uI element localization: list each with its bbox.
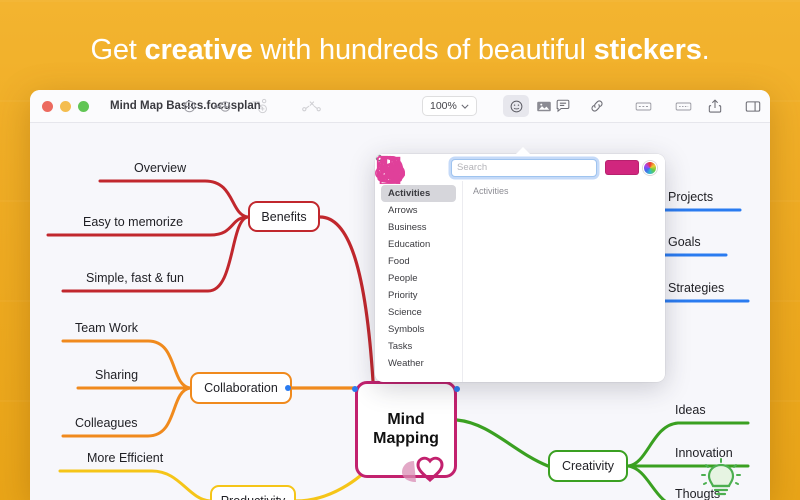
toolbar-node-tools — [176, 95, 324, 117]
share-icon[interactable] — [702, 95, 728, 117]
leaf-more-efficient[interactable]: More Efficient — [87, 451, 163, 465]
attachment-icon[interactable] — [670, 95, 696, 117]
connection-dot-left[interactable] — [352, 386, 358, 392]
disconnect-node-icon[interactable] — [298, 95, 324, 117]
sticker-bowling[interactable] — [596, 201, 657, 244]
category-business[interactable]: Business — [381, 219, 456, 236]
sticker-dice[interactable] — [596, 246, 657, 289]
window-controls[interactable] — [42, 101, 89, 112]
color-wheel-icon[interactable] — [643, 161, 657, 175]
link-icon[interactable] — [584, 95, 610, 117]
headline-part-3: . — [702, 34, 710, 66]
sticker-runner[interactable] — [534, 336, 595, 379]
sticker-checkered-flag[interactable] — [471, 246, 532, 289]
category-arrows[interactable]: Arrows — [381, 202, 456, 219]
sticker-grid[interactable] — [463, 201, 665, 379]
sticker-icon[interactable] — [503, 95, 529, 117]
toolbar-zoom[interactable]: 100% — [422, 96, 477, 116]
maximize-button[interactable] — [78, 101, 89, 112]
zoom-value: 100% — [430, 100, 457, 112]
sticker-golf-flag[interactable] — [596, 291, 657, 334]
chevron-down-icon — [461, 104, 469, 109]
sticker-category-list[interactable]: Activities Arrows Business Education Foo… — [375, 181, 463, 382]
color-swatch[interactable] — [605, 160, 639, 175]
sticker-sailboat[interactable] — [596, 336, 657, 379]
sticker-grid-header: Activities — [463, 185, 665, 201]
sidebar-toggle-icon[interactable] — [740, 95, 766, 117]
popover-toolbar: Search — [375, 154, 665, 181]
add-sibling-node-icon[interactable] — [210, 95, 236, 117]
sticker-chess-knight[interactable] — [534, 246, 595, 289]
leaf-strategies[interactable]: Strategies — [668, 281, 724, 295]
node-creativity[interactable]: Creativity — [548, 450, 628, 482]
toolbar-note-tools — [630, 95, 696, 117]
category-weather[interactable]: Weather — [381, 355, 456, 372]
sticker-bicycle[interactable] — [534, 201, 595, 244]
popover-arrow — [515, 147, 531, 155]
toolbar-annotate-tools — [550, 95, 610, 117]
color-controls — [605, 160, 657, 175]
sticker-search-input[interactable]: Search — [451, 159, 597, 177]
close-button[interactable] — [42, 101, 53, 112]
node-productivity[interactable]: Productivity — [210, 485, 296, 500]
note-icon[interactable] — [630, 95, 656, 117]
category-education[interactable]: Education — [381, 236, 456, 253]
page-headline: Get creative with hundreds of beautiful … — [0, 34, 800, 67]
category-symbols[interactable]: Symbols — [381, 321, 456, 338]
node-benefits[interactable]: Benefits — [248, 201, 320, 232]
category-tasks[interactable]: Tasks — [381, 338, 456, 355]
comment-icon[interactable] — [550, 95, 576, 117]
headline-part-1: Get — [91, 34, 145, 66]
leaf-projects[interactable]: Projects — [668, 190, 713, 204]
zoom-dropdown[interactable]: 100% — [422, 96, 477, 116]
minimize-button[interactable] — [60, 101, 71, 112]
add-child-node-icon[interactable] — [246, 95, 272, 117]
category-science[interactable]: Science — [381, 304, 456, 321]
leaf-overview[interactable]: Overview — [134, 161, 186, 175]
sticker-american-football[interactable] — [471, 291, 532, 334]
sticker-table-tennis[interactable] — [471, 336, 532, 379]
window-titlebar: Mind Map Basics.focusplan — [30, 90, 770, 123]
leaf-simple-fast-fun[interactable]: Simple, fast & fun — [86, 271, 184, 285]
connection-dot-collab[interactable] — [285, 385, 291, 391]
category-food[interactable]: Food — [381, 253, 456, 270]
headline-part-2: with hundreds of beautiful — [253, 34, 594, 66]
sticker-grid-pane: Activities — [463, 181, 665, 382]
headline-bold-creative: creative — [145, 34, 253, 66]
sticker-gamepad[interactable] — [534, 291, 595, 334]
toolbar-insert-tools — [503, 95, 557, 117]
search-placeholder: Search — [457, 162, 487, 173]
leaf-colleagues[interactable]: Colleagues — [75, 416, 138, 430]
category-priority[interactable]: Priority — [381, 287, 456, 304]
category-activities[interactable]: Activities — [381, 185, 456, 202]
leaf-sharing[interactable]: Sharing — [95, 368, 138, 382]
toolbar-right-tools — [702, 95, 766, 117]
leaf-easy-to-memorize[interactable]: Easy to memorize — [83, 215, 183, 229]
add-node-icon[interactable] — [176, 95, 202, 117]
leaf-goals[interactable]: Goals — [668, 235, 701, 249]
leaf-ideas[interactable]: Ideas — [675, 403, 706, 417]
app-window: Mind Map Basics.focusplan — [30, 90, 770, 500]
sticker-basketball[interactable] — [471, 201, 532, 244]
node-collaboration[interactable]: Collaboration — [190, 372, 292, 404]
headline-bold-stickers: stickers — [594, 34, 702, 66]
mindmap-canvas[interactable]: Overview Easy to memorize Simple, fast &… — [30, 123, 770, 500]
popover-body: Activities Arrows Business Education Foo… — [375, 181, 665, 382]
sticker-popover[interactable]: Search Activities Arrows Business Educat… — [375, 154, 665, 382]
connection-dot-right[interactable] — [454, 386, 460, 392]
lightbulb-green-sticker[interactable] — [698, 457, 744, 500]
center-line-1: Mind — [387, 411, 424, 429]
category-people[interactable]: People — [381, 270, 456, 287]
heart-pink-sticker[interactable] — [400, 441, 460, 483]
leaf-team-work[interactable]: Team Work — [75, 321, 138, 335]
